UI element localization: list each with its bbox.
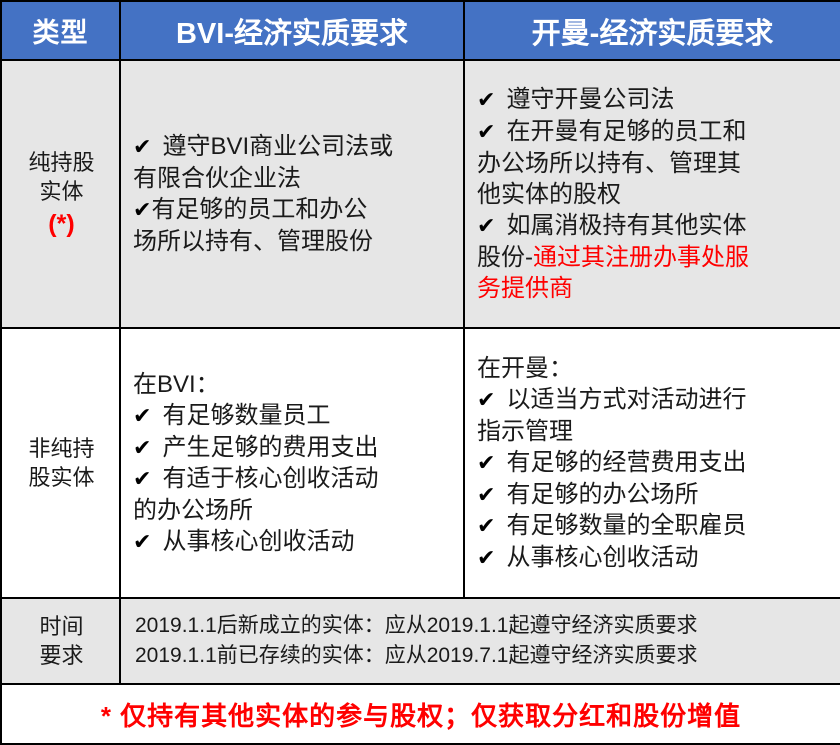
bvi-requirement-list: 在BVI：✔ 有足够数量员工✔ 产生足够的费用支出✔ 有适于核心创收活动的办公场… — [121, 363, 463, 564]
check-icon: ✔ — [133, 436, 156, 461]
type-cell-pure-holding: 纯持股 实体 (*) — [1, 60, 120, 328]
type-label-line2: 股实体 — [14, 463, 109, 492]
requirement-line: 的办公场所 — [133, 495, 453, 526]
requirement-text: 有足够数量的全职雇员 — [507, 512, 747, 539]
requirement-line: 务提供商 — [477, 273, 830, 304]
requirement-line: ✔ 有足够数量员工 — [133, 400, 453, 432]
requirement-text: 从事核心创收活动 — [507, 544, 699, 571]
check-icon: ✔ — [133, 467, 156, 492]
requirement-line: ✔ 产生足够的费用支出 — [133, 432, 453, 464]
requirement-text: 在开曼： — [477, 355, 573, 382]
requirement-text: 以适当方式对活动进行 — [507, 386, 747, 413]
cayman-requirement-list: ✔ 遵守开曼公司法✔ 在开曼有足够的员工和办公场所以持有、管理其他实体的股权✔ … — [465, 78, 840, 310]
time-label-line1: 时间 — [14, 612, 109, 641]
check-icon: ✔ — [477, 88, 500, 113]
requirement-text: 遵守开曼公司法 — [507, 86, 675, 113]
header-cell-bvi: BVI-经济实质要求 — [120, 1, 464, 60]
time-requirement-list: 2019.1.1后新成立的实体：应从2019.1.1起遵守经济实质要求2019.… — [121, 605, 840, 678]
requirement-text: 在开曼有足够的员工和 — [507, 118, 747, 145]
bvi-cell-pure-holding: ✔ 遵守BVI商业公司法或有限合伙企业法✔有足够的员工和办公场所以持有、管理股份 — [120, 60, 464, 328]
requirement-text: 有足够数量员工 — [163, 402, 331, 429]
requirement-text-highlight: 通过其注册办事处服 — [533, 244, 749, 271]
requirement-text: 有足够的经营费用支出 — [507, 449, 747, 476]
economic-substance-requirements-table: 瑞丰德永 瑞丰德永 瑞丰德永 瑞丰德永 瑞丰德永 瑞丰德永 类型 BVI-经济实… — [0, 0, 840, 745]
check-icon: ✔ — [477, 483, 500, 508]
time-requirement-line: 2019.1.1前已存续的实体：应从2019.7.1起遵守经济实质要求 — [135, 641, 830, 671]
requirement-text: 的办公场所 — [133, 497, 253, 524]
requirement-text: 股份- — [477, 244, 533, 271]
cayman-cell-non-pure-holding: 在开曼：✔ 以适当方式对活动进行指示管理✔ 有足够的经营费用支出✔ 有足够的办公… — [464, 328, 840, 597]
requirement-line: ✔ 有适于核心创收活动 — [133, 463, 453, 495]
check-icon: ✔ — [133, 530, 156, 555]
requirement-text: 从事核心创收活动 — [163, 528, 355, 555]
requirement-text: 在BVI： — [133, 371, 220, 398]
footnote-text: * 仅持有其他实体的参与股权；仅获取分红和股份增值 — [1, 684, 840, 744]
check-icon: ✔ — [477, 514, 500, 539]
requirement-line: 有限合伙企业法 — [133, 163, 453, 194]
type-footnote-marker: (*) — [14, 208, 109, 241]
check-icon: ✔ — [477, 451, 500, 476]
requirement-line: 在开曼： — [477, 353, 830, 384]
type-label-line1: 纯持股 — [14, 148, 109, 177]
requirement-line: 在BVI： — [133, 369, 453, 400]
requirement-line: ✔ 以适当方式对活动进行 — [477, 384, 830, 416]
requirement-text: 如属消极持有其他实体 — [507, 212, 747, 239]
cayman-cell-pure-holding: ✔ 遵守开曼公司法✔ 在开曼有足够的员工和办公场所以持有、管理其他实体的股权✔ … — [464, 60, 840, 328]
requirement-line: ✔ 在开曼有足够的员工和 — [477, 116, 830, 148]
check-icon: ✔ — [477, 388, 500, 413]
type-label-line2: 实体 — [14, 177, 109, 206]
requirement-text: 场所以持有、管理股份 — [133, 228, 373, 255]
requirement-text: 务提供商 — [477, 275, 573, 302]
time-requirement-line: 2019.1.1后新成立的实体：应从2019.1.1起遵守经济实质要求 — [135, 611, 830, 641]
check-icon: ✔ — [133, 198, 151, 223]
requirement-text: 有足够的员工和办公 — [151, 196, 367, 223]
check-icon: ✔ — [133, 135, 156, 160]
bvi-requirement-list: ✔ 遵守BVI商业公司法或有限合伙企业法✔有足够的员工和办公场所以持有、管理股份 — [121, 125, 463, 263]
requirement-line: ✔ 从事核心创收活动 — [133, 526, 453, 558]
table-row-time-requirement: 时间 要求 2019.1.1后新成立的实体：应从2019.1.1起遵守经济实质要… — [1, 598, 840, 684]
type-label-line1: 非纯持 — [14, 434, 109, 463]
check-icon: ✔ — [477, 214, 500, 239]
requirement-line: ✔有足够的员工和办公 — [133, 194, 453, 226]
type-cell-non-pure-holding: 非纯持 股实体 — [1, 328, 120, 597]
requirement-line: ✔ 遵守BVI商业公司法或 — [133, 131, 453, 163]
requirement-line: ✔ 遵守开曼公司法 — [477, 84, 830, 116]
requirement-text: 有限合伙企业法 — [133, 165, 301, 192]
requirement-text: 遵守BVI商业公司法或 — [163, 133, 394, 160]
type-cell-time-requirement: 时间 要求 — [1, 598, 120, 684]
header-cell-type: 类型 — [1, 1, 120, 60]
requirement-line: 他实体的股权 — [477, 179, 830, 210]
requirement-text: 办公场所以持有、管理其 — [477, 150, 741, 177]
requirement-line: ✔ 有足够的经营费用支出 — [477, 447, 830, 479]
time-requirement-content: 2019.1.1后新成立的实体：应从2019.1.1起遵守经济实质要求2019.… — [120, 598, 840, 684]
requirement-line: ✔ 如属消极持有其他实体 — [477, 210, 830, 242]
requirement-line: 股份-通过其注册办事处服 — [477, 242, 830, 273]
requirement-line: ✔ 有足够数量的全职雇员 — [477, 510, 830, 542]
cayman-requirement-list: 在开曼：✔ 以适当方式对活动进行指示管理✔ 有足够的经营费用支出✔ 有足够的办公… — [465, 347, 840, 579]
requirement-line: 办公场所以持有、管理其 — [477, 148, 830, 179]
requirement-text: 产生足够的费用支出 — [163, 434, 379, 461]
requirement-line: ✔ 有足够的办公场所 — [477, 479, 830, 511]
table-footnote-row: * 仅持有其他实体的参与股权；仅获取分红和股份增值 — [1, 684, 840, 744]
header-cell-cayman: 开曼-经济实质要求 — [464, 1, 840, 60]
requirement-text: 他实体的股权 — [477, 181, 621, 208]
bvi-cell-non-pure-holding: 在BVI：✔ 有足够数量员工✔ 产生足够的费用支出✔ 有适于核心创收活动的办公场… — [120, 328, 464, 597]
requirement-text: 指示管理 — [477, 418, 573, 445]
time-label-line2: 要求 — [14, 641, 109, 670]
requirement-text: 有适于核心创收活动 — [163, 465, 379, 492]
check-icon: ✔ — [477, 546, 500, 571]
check-icon: ✔ — [133, 404, 156, 429]
requirement-line: 指示管理 — [477, 416, 830, 447]
requirement-line: 场所以持有、管理股份 — [133, 226, 453, 257]
table-row-non-pure-holding-entity: 非纯持 股实体 在BVI：✔ 有足够数量员工✔ 产生足够的费用支出✔ 有适于核心… — [1, 328, 840, 597]
check-icon: ✔ — [477, 120, 500, 145]
requirement-text: 有足够的办公场所 — [507, 481, 699, 508]
table-row-pure-holding-entity: 纯持股 实体 (*) ✔ 遵守BVI商业公司法或有限合伙企业法✔有足够的员工和办… — [1, 60, 840, 328]
table-header-row: 类型 BVI-经济实质要求 开曼-经济实质要求 — [1, 1, 840, 60]
requirements-table: 类型 BVI-经济实质要求 开曼-经济实质要求 纯持股 实体 (*) ✔ 遵守B… — [0, 0, 840, 745]
requirement-line: ✔ 从事核心创收活动 — [477, 542, 830, 574]
